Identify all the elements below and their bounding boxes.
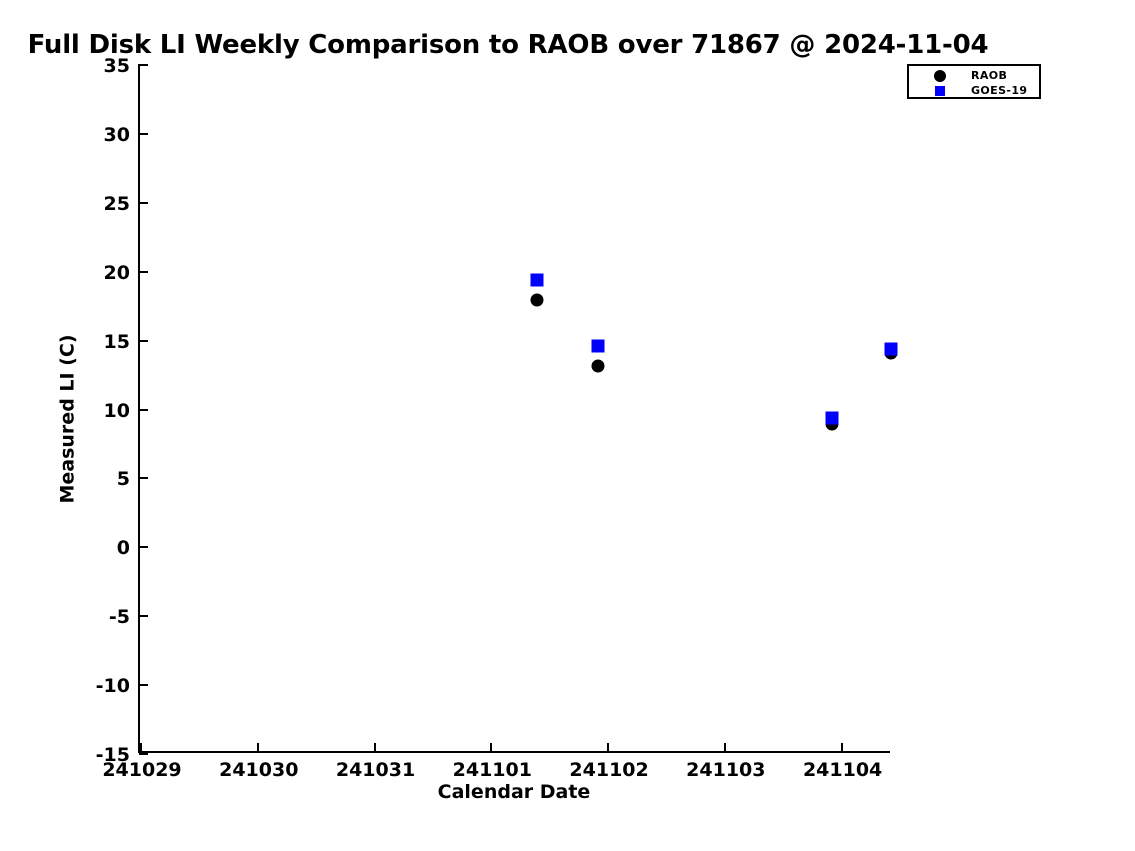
x-axis-tick-label: 241102 <box>569 759 648 781</box>
data-point-goes-19 <box>884 343 897 356</box>
x-axis-tick-label: 241031 <box>336 759 415 781</box>
data-point-goes-19 <box>531 274 544 287</box>
legend: RAOBGOES-19 <box>907 64 1041 99</box>
y-axis-tick-label: 20 <box>104 262 130 284</box>
data-point-goes-19 <box>826 412 839 425</box>
x-axis-tick: 241104 <box>841 743 843 752</box>
y-axis-label: Measured LI (C) <box>57 334 79 503</box>
legend-swatch-wrap <box>909 86 971 96</box>
y-axis-tick-label: 5 <box>117 468 130 490</box>
x-axis-label: Calendar Date <box>138 781 890 803</box>
y-axis-tick-label: 0 <box>117 537 130 559</box>
x-axis-tick-label: 241101 <box>453 759 532 781</box>
x-axis-tick: 241103 <box>724 743 726 752</box>
y-axis-tick: 15 <box>139 340 148 342</box>
legend-item-goes-19: GOES-19 <box>909 83 1039 98</box>
y-axis-tick: 20 <box>139 271 148 273</box>
plot-area: 35302520151050-5-10-15 24102924103024103… <box>138 64 890 753</box>
x-axis-tick: 241030 <box>257 743 259 752</box>
circle-marker-icon <box>934 70 946 82</box>
x-axis-tick-label: 241103 <box>686 759 765 781</box>
legend-item-raob: RAOB <box>909 68 1039 83</box>
x-axis-tick: 241101 <box>490 743 492 752</box>
y-axis-tick-label: 25 <box>104 193 130 215</box>
x-axis-tick-label: 241030 <box>219 759 298 781</box>
data-point-raob <box>591 359 604 372</box>
x-axis-tick: 241029 <box>140 743 142 752</box>
page-title: Full Disk LI Weekly Comparison to RAOB o… <box>0 30 1016 60</box>
x-axis-tick: 241102 <box>607 743 609 752</box>
y-axis-tick: 10 <box>139 409 148 411</box>
x-axis-tick-label: 241104 <box>803 759 882 781</box>
y-axis-tick: -15 <box>139 753 148 755</box>
legend-label: GOES-19 <box>971 84 1028 97</box>
y-axis-tick: -5 <box>139 615 148 617</box>
legend-swatch-wrap <box>909 70 971 82</box>
legend-label: RAOB <box>971 69 1007 82</box>
y-axis-tick-label: 35 <box>104 55 130 77</box>
y-axis-tick: 25 <box>139 202 148 204</box>
data-point-goes-19 <box>591 340 604 353</box>
y-axis-tick: -10 <box>139 684 148 686</box>
y-axis-tick: 30 <box>139 133 148 135</box>
y-axis-tick-label: 15 <box>104 331 130 353</box>
data-point-raob <box>531 293 544 306</box>
y-axis-tick: 5 <box>139 477 148 479</box>
chart-page: Full Disk LI Weekly Comparison to RAOB o… <box>0 0 1135 851</box>
x-axis-tick-label: 241029 <box>102 759 181 781</box>
y-axis-tick-label: 30 <box>104 124 130 146</box>
y-axis-tick: 0 <box>139 546 148 548</box>
y-axis-tick-label: -10 <box>96 675 130 697</box>
x-axis-tick: 241031 <box>374 743 376 752</box>
y-axis-tick: 35 <box>139 64 148 66</box>
y-axis-tick-label: -5 <box>109 606 130 628</box>
y-axis-tick-label: 10 <box>104 400 130 422</box>
square-marker-icon <box>935 86 945 96</box>
